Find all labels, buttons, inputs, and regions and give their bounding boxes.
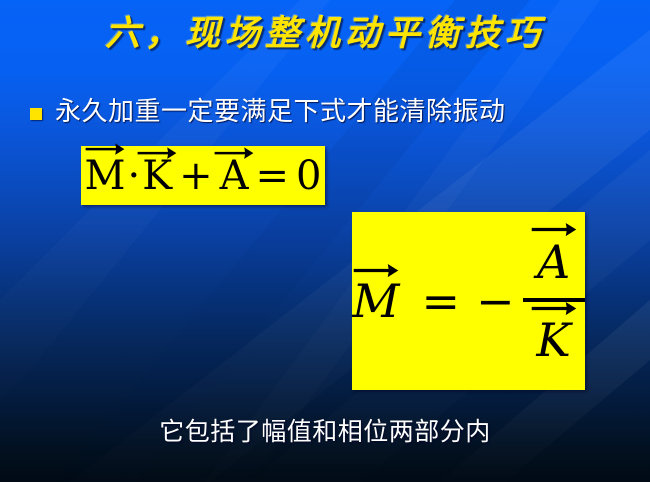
vector-m: M <box>85 156 126 196</box>
value-zero: 0 <box>296 156 321 196</box>
equation-two: M = − A <box>352 238 584 365</box>
fraction: A K <box>523 238 585 365</box>
slide-title-container: 六，现场整机动平衡技巧 <box>0 14 650 54</box>
bullet-list-item: 永久加重一定要满足下式才能清除振动 <box>30 98 506 127</box>
vector-k: K <box>536 316 570 364</box>
equation-box-secondary: M = − A <box>352 212 585 390</box>
slide-title: 六，现场整机动平衡技巧 <box>105 14 545 54</box>
operator-equals: = <box>249 156 297 196</box>
bullet-item-label: 永久加重一定要满足下式才能清除振动 <box>55 98 506 127</box>
vector-k: K <box>142 156 172 196</box>
presentation-slide: 六，现场整机动平衡技巧 永久加重一定要满足下式才能清除振动 M · K <box>0 0 650 482</box>
slide-caption: 它包括了幅值和相位两部分内 <box>0 412 650 448</box>
operator-plus: + <box>172 156 220 196</box>
operator-equals: = <box>414 278 469 324</box>
fraction-bar <box>523 298 585 302</box>
fraction-numerator: A <box>535 238 572 286</box>
fraction-denominator: K <box>534 316 572 364</box>
square-bullet-icon <box>30 108 42 120</box>
vector-a: A <box>537 238 570 286</box>
equation-one: M · K + A = <box>85 156 322 196</box>
operator-minus: − <box>468 278 523 324</box>
equation-box-primary: M · K + A = <box>81 146 325 205</box>
vector-a: A <box>220 156 249 196</box>
operator-dot: · <box>125 156 142 196</box>
vector-m: M <box>352 278 399 324</box>
